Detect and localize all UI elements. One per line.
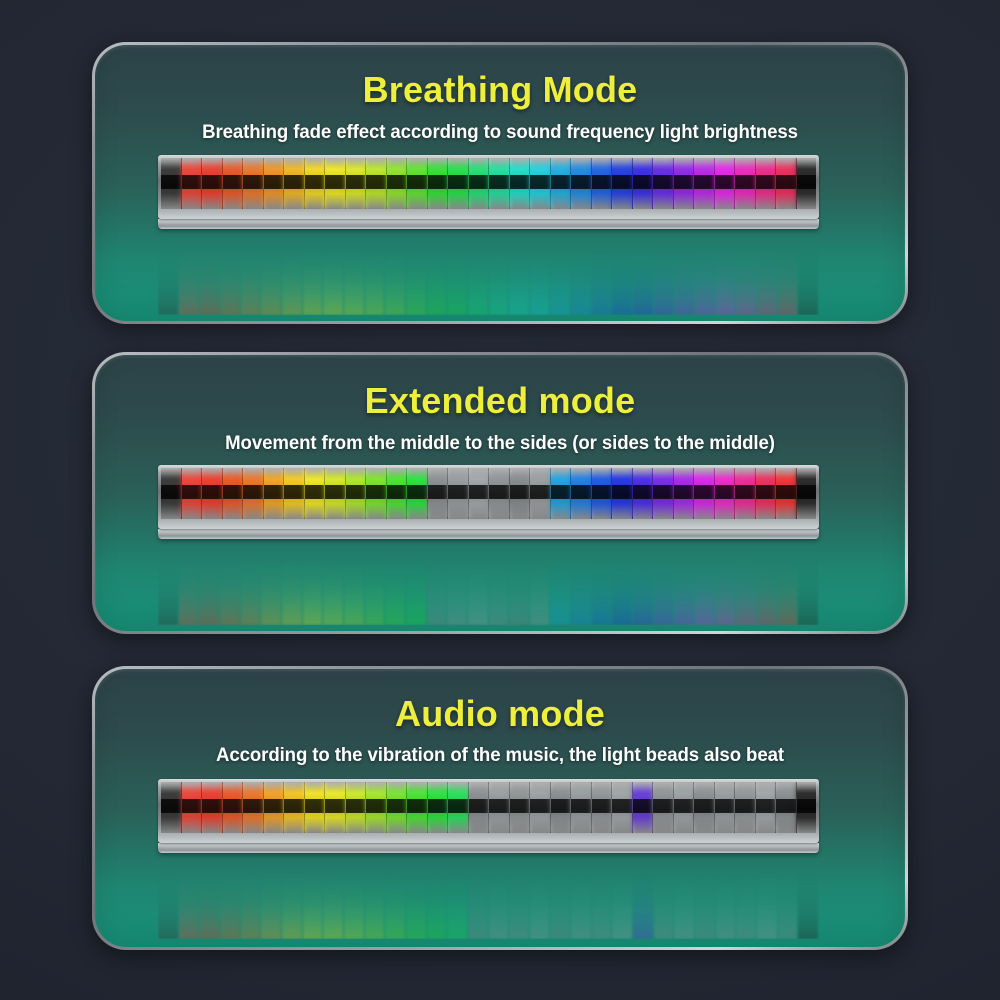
- led-segment: [550, 547, 570, 625]
- led-segment: [179, 547, 199, 625]
- led-segment: [735, 158, 755, 209]
- led-glow: [385, 237, 405, 315]
- led-segment: [592, 861, 612, 939]
- led-glow: [179, 547, 199, 625]
- led-segment: [715, 468, 735, 519]
- led-segment: [284, 158, 304, 209]
- led-segment: [778, 547, 798, 625]
- led-glow: [716, 861, 736, 939]
- led-bar-track: [161, 468, 816, 519]
- led-glow: [798, 861, 818, 939]
- led-segment: [736, 547, 756, 625]
- led-segment: [798, 237, 818, 315]
- led-segment: [530, 547, 550, 625]
- led-glow: [158, 861, 178, 939]
- led-glow: [757, 547, 777, 625]
- card-inner: Audio mode According to the vibration of…: [95, 669, 905, 947]
- led-segment: [202, 158, 222, 209]
- led-segment: [428, 782, 448, 833]
- led-glow: [653, 158, 673, 209]
- led-segment: [510, 782, 530, 833]
- led-segment: [447, 237, 467, 315]
- led-glow: [323, 237, 343, 315]
- led-glow: [282, 547, 302, 625]
- led-segment: [715, 158, 735, 209]
- led-glow: [365, 547, 385, 625]
- led-glow: [406, 237, 426, 315]
- led-segment: [282, 237, 302, 315]
- led-glow: [509, 237, 529, 315]
- led-glow: [633, 237, 653, 315]
- led-segment: [612, 468, 632, 519]
- led-glow: [261, 237, 281, 315]
- led-segment: [241, 861, 261, 939]
- led-segment: [571, 237, 591, 315]
- led-glow: [798, 547, 818, 625]
- led-segment: [509, 547, 529, 625]
- led-glow: [530, 237, 550, 315]
- led-segment: [366, 158, 386, 209]
- led-glow: [182, 782, 202, 833]
- led-segment: [694, 158, 714, 209]
- led-glow: [387, 468, 407, 519]
- led-segment: [776, 468, 796, 519]
- led-segment: [571, 158, 591, 209]
- led-segment: [654, 547, 674, 625]
- led-segment: [509, 237, 529, 315]
- led-glow: [571, 237, 591, 315]
- led-segment: [243, 158, 263, 209]
- led-segment: [551, 782, 571, 833]
- led-glow: [243, 158, 263, 209]
- led-segment: [199, 861, 219, 939]
- led-segment: [448, 468, 468, 519]
- led-glow: [243, 468, 263, 519]
- led-glow: [365, 237, 385, 315]
- led-segment: [736, 237, 756, 315]
- led-segment: [551, 158, 571, 209]
- mode-card-breathing: Breathing Mode Breathing fade effect acc…: [92, 42, 908, 324]
- led-segment: [694, 468, 714, 519]
- led-glow: [305, 782, 325, 833]
- led-segment: [489, 547, 509, 625]
- led-segment: [468, 861, 488, 939]
- led-glow: [344, 237, 364, 315]
- led-glow: [571, 158, 591, 209]
- led-segment: [716, 237, 736, 315]
- led-glow: [715, 158, 735, 209]
- led-glow: [468, 861, 488, 939]
- led-segment: [407, 782, 427, 833]
- led-segment: [264, 782, 284, 833]
- led-glow: [223, 468, 243, 519]
- led-glow: [757, 861, 777, 939]
- led-segment: [323, 861, 343, 939]
- led-segment: [182, 468, 202, 519]
- led-glow: [346, 782, 366, 833]
- led-segment: [264, 158, 284, 209]
- led-glow: [261, 861, 281, 939]
- led-segment: [695, 861, 715, 939]
- led-segment: [778, 237, 798, 315]
- led-segment: [346, 468, 366, 519]
- led-glow: [427, 237, 447, 315]
- led-segment: [469, 468, 489, 519]
- led-segment: [571, 782, 591, 833]
- led-glow: [510, 782, 530, 833]
- led-glow: [530, 158, 550, 209]
- led-segment: [407, 468, 427, 519]
- led-segment: [448, 158, 468, 209]
- led-segment: [387, 782, 407, 833]
- led-glow: [469, 158, 489, 209]
- led-glow: [220, 861, 240, 939]
- led-glow: [530, 547, 550, 625]
- led-glow: [612, 237, 632, 315]
- led-segment: [303, 861, 323, 939]
- led-glow: [427, 861, 447, 939]
- led-glow: [284, 782, 304, 833]
- card-subtitle: According to the vibration of the music,…: [113, 744, 887, 767]
- led-glow: [674, 782, 694, 833]
- led-glow: [448, 782, 468, 833]
- led-segment: [365, 861, 385, 939]
- led-segment: [158, 237, 178, 315]
- led-glow: [797, 468, 817, 519]
- led-glow: [797, 782, 817, 833]
- led-glow: [223, 782, 243, 833]
- led-segment: [346, 782, 366, 833]
- led-segment: [612, 861, 632, 939]
- led-glow: [284, 158, 304, 209]
- led-segment: [654, 237, 674, 315]
- led-segment: [158, 861, 178, 939]
- led-segment: [385, 861, 405, 939]
- led-glow: [158, 547, 178, 625]
- led-segment: [716, 861, 736, 939]
- led-segment: [674, 468, 694, 519]
- led-segment: [776, 158, 796, 209]
- led-glow: [241, 547, 261, 625]
- led-glow: [592, 468, 612, 519]
- led-segment: [510, 158, 530, 209]
- led-segment: [653, 158, 673, 209]
- led-segment: [756, 158, 776, 209]
- led-segment: [428, 158, 448, 209]
- led-segment: [489, 782, 509, 833]
- led-segment: [365, 547, 385, 625]
- led-glow: [695, 237, 715, 315]
- led-segment: [612, 547, 632, 625]
- led-segment: [735, 782, 755, 833]
- led-glow: [633, 468, 653, 519]
- card-subtitle: Breathing fade effect according to sound…: [113, 121, 887, 144]
- led-segment: [550, 861, 570, 939]
- led-segment: [633, 547, 653, 625]
- led-segment: [798, 547, 818, 625]
- led-segment: [161, 782, 181, 833]
- led-glow: [756, 468, 776, 519]
- led-segment: [179, 237, 199, 315]
- led-segment: [716, 547, 736, 625]
- led-glow: [407, 158, 427, 209]
- led-segment: [530, 158, 550, 209]
- led-bar-assembly: [158, 465, 819, 625]
- led-segment: [427, 237, 447, 315]
- led-segment: [757, 547, 777, 625]
- mode-card-extended: Extended mode Movement from the middle t…: [92, 352, 908, 634]
- led-segment: [284, 468, 304, 519]
- led-glow: [407, 468, 427, 519]
- led-glow: [241, 861, 261, 939]
- led-glow: [202, 468, 222, 519]
- led-glow: [694, 158, 714, 209]
- led-segment: [551, 468, 571, 519]
- led-glow: [161, 468, 181, 519]
- led-segment: [757, 861, 777, 939]
- led-segment: [303, 237, 323, 315]
- led-segment: [366, 782, 386, 833]
- led-glow: [778, 547, 798, 625]
- led-glow: [550, 547, 570, 625]
- led-glow: [344, 861, 364, 939]
- led-glow: [489, 861, 509, 939]
- led-glow: [387, 158, 407, 209]
- led-segment: [243, 782, 263, 833]
- led-glow: [179, 861, 199, 939]
- led-glow: [202, 782, 222, 833]
- led-segment: [674, 158, 694, 209]
- led-glow: [571, 547, 591, 625]
- led-segment: [735, 468, 755, 519]
- led-segment: [305, 782, 325, 833]
- led-bar-base: [158, 219, 819, 229]
- led-segment: [612, 237, 632, 315]
- led-segment: [427, 861, 447, 939]
- led-glow: [695, 547, 715, 625]
- led-segment: [261, 237, 281, 315]
- led-glow: [776, 468, 796, 519]
- led-segment: [592, 547, 612, 625]
- led-glow: [715, 468, 735, 519]
- led-glow: [592, 861, 612, 939]
- led-segment: [406, 861, 426, 939]
- led-glow: [633, 782, 653, 833]
- led-glow: [406, 861, 426, 939]
- led-glow: [366, 158, 386, 209]
- led-glow: [366, 782, 386, 833]
- led-segment: [243, 468, 263, 519]
- led-segment: [797, 782, 817, 833]
- led-glow: [303, 237, 323, 315]
- led-glow: [633, 861, 653, 939]
- led-segment: [261, 547, 281, 625]
- led-segment: [447, 861, 467, 939]
- led-bar-frame: [158, 155, 819, 219]
- led-segment: [797, 158, 817, 209]
- led-glow: [674, 861, 694, 939]
- led-segment: [407, 158, 427, 209]
- led-segment: [695, 237, 715, 315]
- led-glow: [797, 158, 817, 209]
- led-glow: [654, 547, 674, 625]
- led-glow: [776, 782, 796, 833]
- led-segment: [284, 782, 304, 833]
- led-glow: [220, 237, 240, 315]
- led-glow: [571, 782, 591, 833]
- led-glow: [489, 158, 509, 209]
- led-segment: [346, 158, 366, 209]
- led-glow: [346, 468, 366, 519]
- led-glow: [261, 547, 281, 625]
- led-glow: [509, 861, 529, 939]
- led-bar-track: [161, 782, 816, 833]
- led-glow: [550, 861, 570, 939]
- led-segment: [220, 547, 240, 625]
- led-segment: [653, 782, 673, 833]
- led-segment: [757, 237, 777, 315]
- led-glow: [199, 861, 219, 939]
- led-segment: [489, 468, 509, 519]
- led-segment: [241, 547, 261, 625]
- led-segment: [303, 547, 323, 625]
- led-bar-base: [158, 529, 819, 539]
- led-glow: [716, 547, 736, 625]
- led-segment: [797, 468, 817, 519]
- led-segment: [427, 547, 447, 625]
- led-segment: [220, 237, 240, 315]
- led-segment: [530, 237, 550, 315]
- led-glow: [756, 158, 776, 209]
- led-segment: [344, 237, 364, 315]
- led-segment: [387, 158, 407, 209]
- led-glow: [179, 237, 199, 315]
- led-segment: [633, 158, 653, 209]
- led-segment: [633, 237, 653, 315]
- led-glow: [778, 237, 798, 315]
- led-glow: [551, 468, 571, 519]
- led-glow: [468, 547, 488, 625]
- led-segment: [674, 782, 694, 833]
- led-glow: [447, 237, 467, 315]
- led-glow: [428, 158, 448, 209]
- led-segment: [633, 468, 653, 519]
- led-segment: [571, 468, 591, 519]
- led-glow: [798, 237, 818, 315]
- led-segment: [428, 468, 448, 519]
- mode-card-audio: Audio mode According to the vibration of…: [92, 666, 908, 950]
- card-subtitle: Movement from the middle to the sides (o…: [113, 432, 887, 455]
- led-segment: [223, 468, 243, 519]
- led-glow: [264, 468, 284, 519]
- led-glow: [447, 547, 467, 625]
- led-segment: [715, 782, 735, 833]
- card-inner: Breathing Mode Breathing fade effect acc…: [95, 45, 905, 321]
- card-title: Extended mode: [95, 380, 905, 422]
- led-segment: [695, 547, 715, 625]
- led-glow: [653, 782, 673, 833]
- led-segment: [199, 237, 219, 315]
- led-segment: [489, 861, 509, 939]
- led-segment: [220, 861, 240, 939]
- led-glow: [571, 861, 591, 939]
- led-segment: [305, 468, 325, 519]
- led-segment: [571, 547, 591, 625]
- led-bar-reflection: [158, 237, 819, 315]
- led-segment: [158, 547, 178, 625]
- led-glow: [489, 468, 509, 519]
- led-glow: [571, 468, 591, 519]
- led-glow: [776, 158, 796, 209]
- led-segment: [468, 237, 488, 315]
- led-segment: [530, 468, 550, 519]
- led-glow: [715, 782, 735, 833]
- led-glow: [427, 547, 447, 625]
- led-bar-reflection: [158, 547, 819, 625]
- led-glow: [366, 468, 386, 519]
- led-glow: [344, 547, 364, 625]
- led-segment: [776, 782, 796, 833]
- led-glow: [530, 468, 550, 519]
- led-glow: [346, 158, 366, 209]
- led-segment: [653, 468, 673, 519]
- led-segment: [592, 782, 612, 833]
- led-glow: [653, 468, 673, 519]
- led-glow: [695, 861, 715, 939]
- led-segment: [694, 782, 714, 833]
- led-glow: [592, 237, 612, 315]
- led-segment: [182, 158, 202, 209]
- led-glow: [509, 547, 529, 625]
- led-bar-frame: [158, 465, 819, 529]
- led-glow: [428, 468, 448, 519]
- led-segment: [448, 782, 468, 833]
- led-glow: [303, 861, 323, 939]
- led-glow: [365, 861, 385, 939]
- led-glow: [325, 158, 345, 209]
- led-segment: [305, 158, 325, 209]
- led-glow: [264, 782, 284, 833]
- led-glow: [161, 782, 181, 833]
- led-glow: [633, 547, 653, 625]
- led-segment: [550, 237, 570, 315]
- led-segment: [323, 547, 343, 625]
- led-glow: [612, 782, 632, 833]
- card-inner: Extended mode Movement from the middle t…: [95, 355, 905, 631]
- led-glow: [694, 782, 714, 833]
- led-glow: [199, 547, 219, 625]
- led-glow: [612, 468, 632, 519]
- led-segment: [633, 782, 653, 833]
- led-bar-reflection: [158, 861, 819, 939]
- led-segment: [756, 468, 776, 519]
- led-segment: [325, 782, 345, 833]
- led-glow: [674, 158, 694, 209]
- led-segment: [161, 158, 181, 209]
- led-glow: [407, 782, 427, 833]
- led-segment: [406, 237, 426, 315]
- led-segment: [261, 861, 281, 939]
- led-segment: [736, 861, 756, 939]
- led-segment: [654, 861, 674, 939]
- led-glow: [325, 468, 345, 519]
- led-bar-frame: [158, 779, 819, 843]
- led-glow: [654, 861, 674, 939]
- led-glow: [510, 158, 530, 209]
- led-glow: [735, 158, 755, 209]
- led-segment: [778, 861, 798, 939]
- led-glow: [220, 547, 240, 625]
